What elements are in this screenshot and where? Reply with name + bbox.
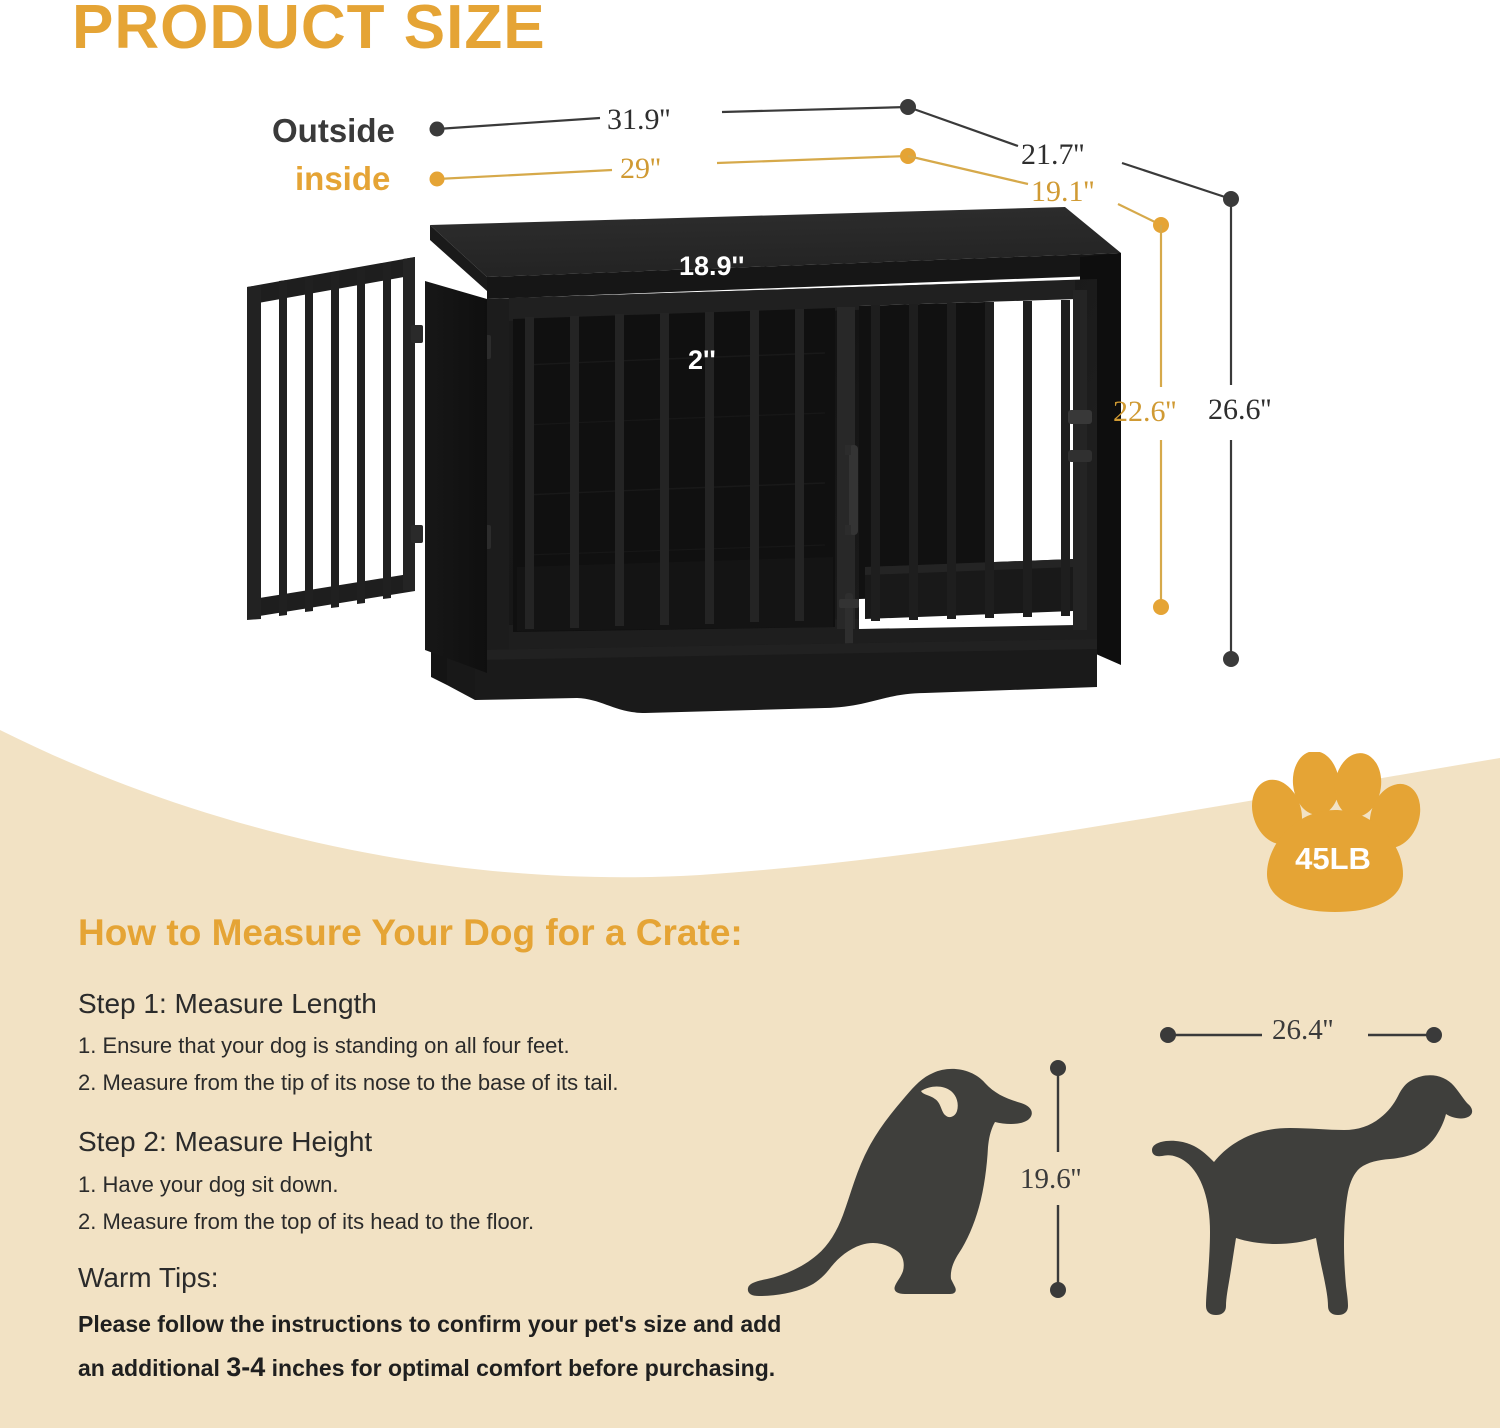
dimension-outside-height: 26.6'' (1208, 393, 1271, 427)
dimension-inside-height: 22.6'' (1113, 395, 1176, 429)
dimension-door-width: 18.9'' (679, 251, 744, 282)
dimension-dog-standing-length: 26.4'' (1272, 1014, 1333, 1047)
step-1-line-2: 2. Measure from the tip of its nose to t… (78, 1070, 619, 1096)
warm-tips-line-1: Please follow the instructions to confir… (78, 1311, 781, 1338)
step-2-title: Step 2: Measure Height (78, 1126, 372, 1158)
legend-inside-label: inside (295, 160, 390, 198)
dimension-inside-depth: 19.1'' (1031, 175, 1094, 209)
warm-tips-line-2-prefix: an additional (78, 1355, 226, 1381)
warm-tips-inches-emphasis: 3-4 (226, 1352, 265, 1382)
dimension-dog-sitting-height: 19.6'' (1020, 1163, 1081, 1196)
warm-tips-title: Warm Tips: (78, 1262, 219, 1294)
step-2-line-2: 2. Measure from the top of its head to t… (78, 1209, 534, 1235)
dimension-inside-width: 29'' (620, 152, 661, 186)
measure-section-heading: How to Measure Your Dog for a Crate: (78, 912, 743, 954)
step-2-line-1: 1. Have your dog sit down. (78, 1172, 338, 1198)
paw-icon (1240, 752, 1425, 917)
legend-outside-label: Outside (272, 112, 395, 150)
step-1-title: Step 1: Measure Length (78, 988, 377, 1020)
warm-tips-line-2-suffix: inches for optimal comfort before purcha… (265, 1355, 775, 1381)
dog-crate-illustration (225, 195, 1125, 715)
dimension-bar-spacing: 2'' (688, 345, 716, 376)
weight-badge-label: 45LB (1258, 841, 1408, 877)
dimension-outside-depth: 21.7'' (1021, 138, 1084, 172)
dimension-outside-width: 31.9'' (607, 103, 670, 137)
step-1-line-1: 1. Ensure that your dog is standing on a… (78, 1033, 570, 1059)
warm-tips-line-2: an additional 3-4 inches for optimal com… (78, 1352, 775, 1383)
